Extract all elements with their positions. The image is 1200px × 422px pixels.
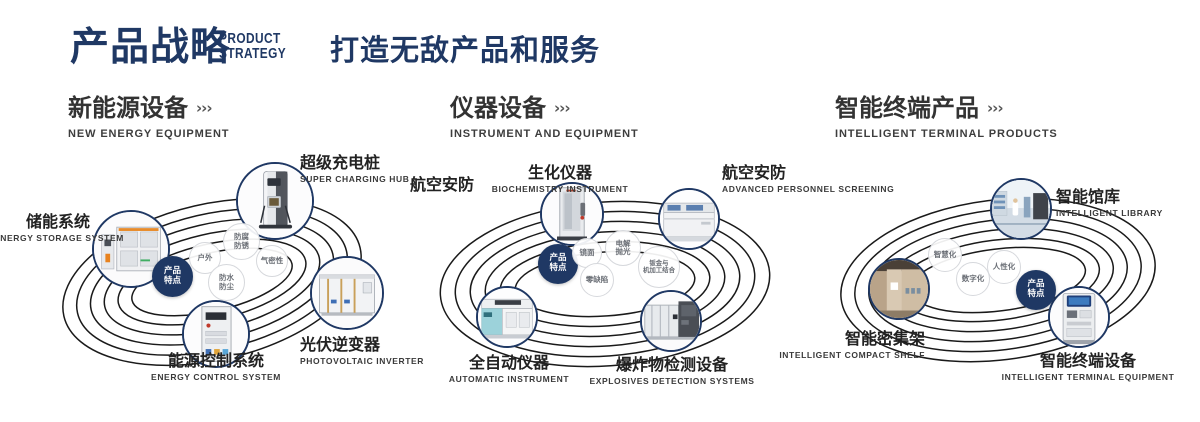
node-label-en: INTELLIGENT COMPACT SHELF xyxy=(740,350,925,361)
diagram-intelligent-terminal: 智能馆库 INTELLIGENT LIBRARY 智能密集架 INTELLIGE… xyxy=(800,150,1200,400)
node-label-aviation-security-left: 航空安防 xyxy=(364,176,474,194)
page-title: 产品战略 xyxy=(70,28,230,67)
node-label-cn: 能源控制系统 xyxy=(86,352,346,370)
feature-bubble-digital[interactable]: 数字化 xyxy=(956,262,990,296)
feature-bubble-humanized[interactable]: 人性化 xyxy=(987,250,1021,284)
section-heading-instrument: 仪器设备››› INSTRUMENT AND EQUIPMENT xyxy=(450,95,639,140)
node-photovoltaic-inverter[interactable] xyxy=(310,256,384,330)
node-label-cn: 智能馆库 xyxy=(1056,188,1163,206)
node-intelligent-library[interactable] xyxy=(990,178,1052,240)
node-label-cn: 智能终端设备 xyxy=(978,352,1198,370)
node-intelligent-terminal-equipment[interactable] xyxy=(1048,286,1110,348)
node-label-intelligent-compact-shelf: 智能密集架 INTELLIGENT COMPACT SHELF xyxy=(740,330,925,361)
section-heading-en: NEW ENERGY EQUIPMENT xyxy=(68,128,229,140)
node-label-intelligent-library: 智能馆库 INTELLIGENT LIBRARY xyxy=(1056,188,1163,219)
node-label-energy-storage: 储能系统 ENERGY STORAGE SYSTEM xyxy=(0,213,90,244)
section-heading-cn: 智能终端产品››› xyxy=(835,95,1058,124)
node-explosives-detection[interactable] xyxy=(640,290,702,352)
self-service-kiosk-photo xyxy=(1050,288,1108,346)
automatic-instrument-photo xyxy=(478,288,536,346)
section-heading-en: INTELLIGENT TERMINAL PRODUCTS xyxy=(835,128,1058,140)
section-heading-cn-text: 智能终端产品 xyxy=(835,94,979,122)
center-bubble-product-features[interactable]: 产品 特点 xyxy=(1016,270,1056,310)
node-label-en: INTELLIGENT TERMINAL EQUIPMENT xyxy=(978,372,1198,383)
node-automatic-instrument[interactable] xyxy=(476,286,538,348)
feature-bubble-smart[interactable]: 智慧化 xyxy=(928,238,962,272)
chevrons-right-icon: ››› xyxy=(196,99,212,117)
node-label-en: INTELLIGENT LIBRARY xyxy=(1056,208,1163,219)
title-en-line2: STRATEGY xyxy=(219,47,286,62)
node-label-cn: 生化仪器 xyxy=(460,164,660,182)
feature-bubble-waterproof[interactable]: 防水 防尘 xyxy=(208,264,245,301)
compact-shelving-photo xyxy=(870,260,928,318)
section-heading-en: INSTRUMENT AND EQUIPMENT xyxy=(450,128,639,140)
center-bubble-line2: 特点 xyxy=(1027,290,1044,300)
section-heading-cn-text: 新能源设备 xyxy=(68,94,188,122)
section-heading-cn: 仪器设备››› xyxy=(450,95,639,124)
chevrons-right-icon: ››› xyxy=(554,99,570,117)
section-heading-intelligent-terminal: 智能终端产品››› INTELLIGENT TERMINAL PRODUCTS xyxy=(835,95,1058,140)
chevrons-right-icon: ››› xyxy=(987,99,1003,117)
diagram-new-energy: 储能系统 ENERGY STORAGE SYSTEM 超级充电桩 SUPER C… xyxy=(0,150,420,400)
node-label-cn: 储能系统 xyxy=(0,213,90,231)
section-heading-cn-text: 仪器设备 xyxy=(450,94,546,122)
explosives-detector-photo xyxy=(642,292,700,350)
feature-bubble-airtight[interactable]: 气密性 xyxy=(256,245,288,277)
feature-bubble-anticorrosion[interactable]: 防腐 防锈 xyxy=(223,223,260,260)
library-interior-photo xyxy=(992,180,1050,238)
center-bubble-line2: 特点 xyxy=(164,277,181,287)
section-heading-new-energy: 新能源设备››› NEW ENERGY EQUIPMENT xyxy=(68,95,229,140)
header: 产品战略 PRODUCT STRATEGY 打造无敌产品和服务 xyxy=(0,0,1200,88)
node-label-cn: 超级充电桩 xyxy=(300,154,410,172)
pv-inverter-cabinet-photo xyxy=(312,258,382,328)
feature-bubble-zero-defect[interactable]: 零缺陷 xyxy=(580,263,614,297)
node-label-en: ENERGY STORAGE SYSTEM xyxy=(0,233,90,244)
node-advanced-personnel-screening[interactable] xyxy=(658,188,720,250)
node-label-en: ENERGY CONTROL SYSTEM xyxy=(86,372,346,383)
center-bubble-line2: 特点 xyxy=(549,264,566,274)
title-en-line1: PRODUCT xyxy=(219,32,286,47)
center-bubble-product-features[interactable]: 产品 特点 xyxy=(152,256,193,297)
screening-machine-photo xyxy=(660,190,718,248)
node-label-cn: 航空安防 xyxy=(364,176,474,194)
node-label-biochemistry-instrument: 生化仪器 BIOCHEMISTRY INSTRUMENT xyxy=(460,164,660,195)
node-label-en: AUTOMATIC INSTRUMENT xyxy=(414,374,604,385)
node-label-energy-control-system: 能源控制系统 ENERGY CONTROL SYSTEM xyxy=(86,352,346,383)
node-label-intelligent-terminal-equipment: 智能终端设备 INTELLIGENT TERMINAL EQUIPMENT xyxy=(978,352,1198,383)
node-label-cn: 全自动仪器 xyxy=(414,354,604,372)
feature-bubble-electropolishing[interactable]: 电解 抛光 xyxy=(605,230,641,266)
page-title-english: PRODUCT STRATEGY xyxy=(219,32,286,62)
product-strategy-poster: 产品战略 PRODUCT STRATEGY 打造无敌产品和服务 新能源设备›››… xyxy=(0,0,1200,422)
diagram-instrument: 生化仪器 BIOCHEMISTRY INSTRUMENT 航空安防 航空安防 A… xyxy=(400,150,820,400)
section-heading-cn: 新能源设备››› xyxy=(68,95,229,124)
node-label-cn: 智能密集架 xyxy=(740,330,925,348)
node-label-en: BIOCHEMISTRY INSTRUMENT xyxy=(460,184,660,195)
page-subtitle: 打造无敌产品和服务 xyxy=(330,36,600,65)
feature-bubble-sheetmetal-machining[interactable]: 钣金与 机加工结合 xyxy=(638,246,680,288)
node-intelligent-compact-shelf[interactable] xyxy=(868,258,930,320)
node-label-automatic-instrument: 全自动仪器 AUTOMATIC INSTRUMENT xyxy=(414,354,604,385)
